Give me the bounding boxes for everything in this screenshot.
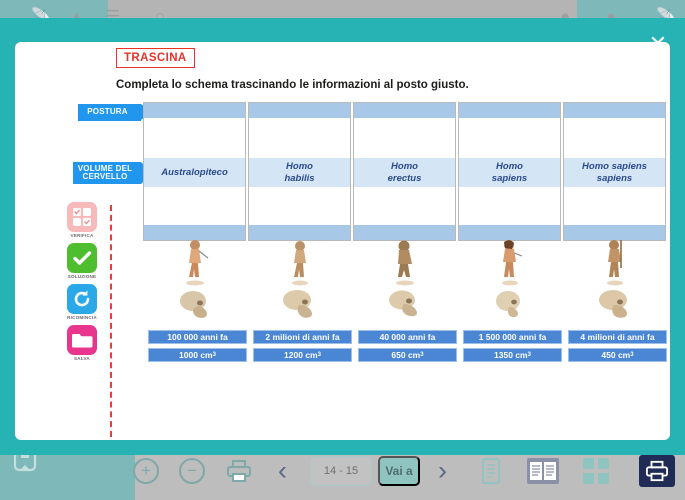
skull-erectus-icon [384,288,426,320]
exercise-modal: ✕ TRASCINA Completa lo schema trascinand… [0,18,685,455]
dropzone-postura[interactable] [459,118,560,158]
prev-page-button[interactable]: ‹ [278,456,287,487]
figure-group [353,238,456,328]
zoom-in-button[interactable]: + [133,458,159,484]
answer-tile-time[interactable]: 100 000 anni fa [148,330,247,344]
answer-value: 1000 cm [179,350,213,360]
dropzone-volume[interactable] [354,187,455,227]
tool-verifica[interactable]: VERIFICA [62,202,102,238]
dropzone-postura[interactable] [354,118,455,158]
exercise-type-badge: TRASCINA [116,48,195,68]
tool-label: SOLUZIONE [62,274,102,279]
dropzone-postura[interactable] [249,118,350,158]
figure-group [143,238,246,328]
hominid-sapiens-sapiens-icon [598,238,632,286]
column-band-top [249,103,350,118]
hominid-habilis-icon [283,238,317,286]
schema-column: Homo sapiens [458,102,561,241]
hominid-erectus-icon [388,238,422,286]
column-band-top [564,103,665,118]
tool-label: RICOMINCIA [62,315,102,320]
row-label-volume-cervello: VOLUME DEL CERVELLO [73,162,141,184]
dropzone-volume[interactable] [144,187,245,227]
tool-ricomincia[interactable]: RICOMINCIA [62,284,102,320]
figure-group [458,238,561,328]
single-page-icon[interactable] [481,458,501,484]
hominid-australopithecus-icon [178,238,212,286]
row-label-postura: POSTURA [78,104,141,121]
answer-value: 450 cm [601,350,630,360]
figures-row [143,238,668,328]
dropzone-postura[interactable] [564,118,665,158]
dropzone-postura[interactable] [144,118,245,158]
skull-australopithecus-icon [174,288,216,320]
schema-column: Homo sapiens sapiens [563,102,666,241]
goto-page-button[interactable]: Vai a [378,456,420,486]
answer-tile-volume[interactable]: 1350 cm3 [463,348,562,362]
zoom-out-button[interactable]: − [179,458,205,484]
answer-unit-exponent: 3 [318,352,321,358]
column-band-top [459,103,560,118]
tool-soluzione[interactable]: SOLUZIONE [62,243,102,279]
check-icon [67,243,97,273]
answer-tile-time[interactable]: 1 500 000 anni fa [463,330,562,344]
species-name: Homo sapiens sapiens [564,158,665,187]
row-label-volume-text: VOLUME DEL CERVELLO [78,165,132,182]
skull-sapiens-icon [489,288,531,320]
answer-unit-exponent: 3 [630,352,633,358]
column-band-top [144,103,245,118]
next-page-button[interactable]: › [438,456,447,487]
refresh-icon [67,284,97,314]
schema-column: Homo habilis [248,102,351,241]
answer-unit-exponent: 3 [213,352,216,358]
page-indicator[interactable]: 14 - 15 [310,456,372,486]
divider-dashed [110,205,112,437]
answer-tile-time[interactable]: 2 milioni di anni fa [253,330,352,344]
tool-salva[interactable]: SALVA [62,325,102,361]
species-name: Homo habilis [249,158,350,187]
printer-icon [645,460,669,482]
figure-group [248,238,351,328]
answer-value: 650 cm [391,350,420,360]
grid-icon[interactable] [583,458,609,484]
schema-column: Australopiteco [143,102,246,241]
species-name: Homo erectus [354,158,455,187]
folder-icon [67,325,97,355]
exercise-card: TRASCINA Completa lo schema trascinando … [15,42,670,440]
dropzone-volume[interactable] [459,187,560,227]
species-name: Homo sapiens [459,158,560,187]
answer-tile-volume[interactable]: 1000 cm3 [148,348,247,362]
print-button[interactable] [639,455,675,487]
answer-unit-exponent: 3 [420,352,423,358]
print-icon[interactable] [226,459,252,483]
species-name: Australopiteco [144,158,245,187]
answer-tile-volume[interactable]: 650 cm3 [358,348,457,362]
figure-group [563,238,666,328]
dropzone-volume[interactable] [249,187,350,227]
double-page-icon[interactable] [527,458,559,484]
answer-tile-time[interactable]: 4 milioni di anni fa [568,330,667,344]
answer-value: 1350 cm [494,350,528,360]
hominid-sapiens-icon [493,238,527,286]
tool-label: SALVA [62,356,102,361]
answer-value: 1200 cm [284,350,318,360]
tool-label: VERIFICA [62,233,102,238]
column-band-top [354,103,455,118]
skull-habilis-icon [279,288,321,320]
skull-sapiens-sapiens-icon [594,288,636,320]
answer-tile-volume[interactable]: 450 cm3 [568,348,667,362]
answer-tile-time[interactable]: 40 000 anni fa [358,330,457,344]
checkboxes-icon [67,202,97,232]
tool-rail: VERIFICA SOLUZIONE RICOMINCIA [62,202,102,366]
dropzone-volume[interactable] [564,187,665,227]
schema-column: Homo erectus [353,102,456,241]
exercise-instruction: Completa lo schema trascinando le inform… [116,79,636,91]
answer-unit-exponent: 3 [528,352,531,358]
answer-tile-volume[interactable]: 1200 cm3 [253,348,352,362]
